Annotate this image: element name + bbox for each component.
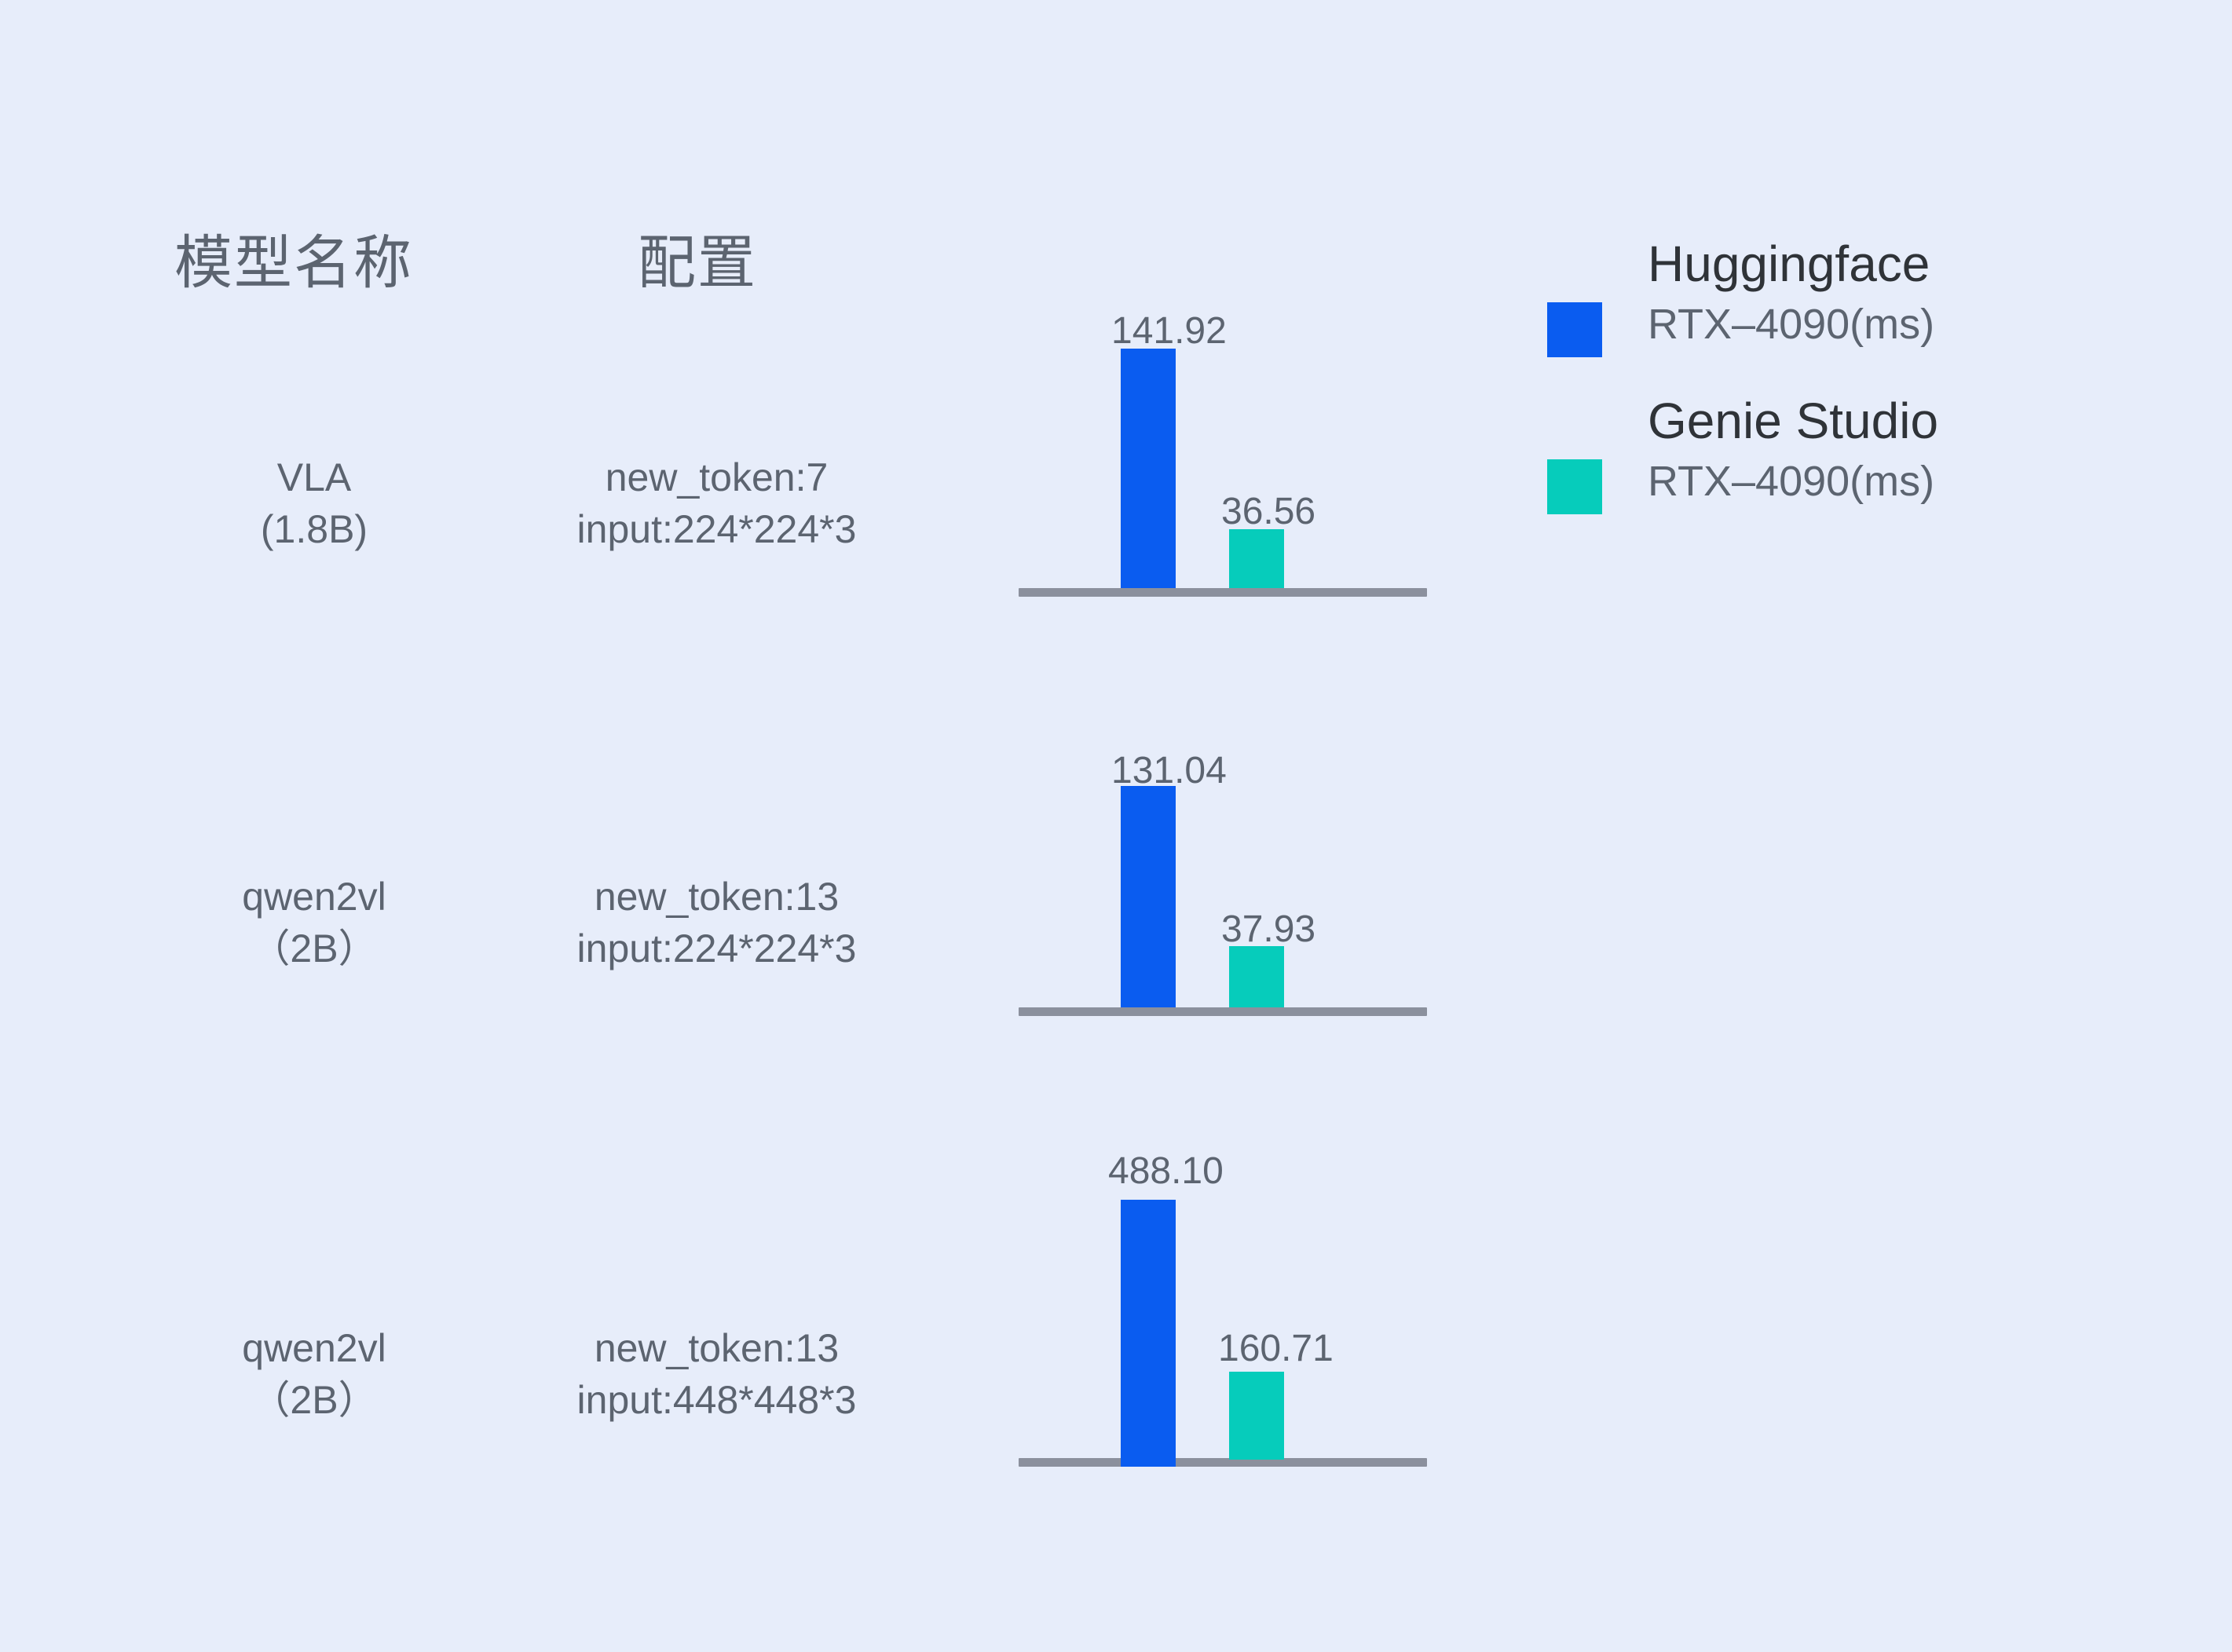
- bar-huggingface[interactable]: [1121, 1200, 1176, 1467]
- legend-title: Huggingface: [1648, 236, 2072, 294]
- bar-genie-studio[interactable]: [1229, 1372, 1284, 1460]
- row-config-label: new_token:13 input:224*224*3: [503, 871, 931, 974]
- bar-group: 141.92 36.56: [1019, 298, 1427, 597]
- row-config-label: new_token:13 input:448*448*3: [503, 1322, 931, 1426]
- bar-value-huggingface: 131.04: [1111, 752, 1227, 790]
- bar-group: 131.04 37.93: [1019, 718, 1427, 1016]
- axis-baseline: [1019, 1458, 1427, 1467]
- bar-value-genie-studio: 37.93: [1221, 911, 1315, 948]
- bar-group: 488.10 160.71: [1019, 1140, 1427, 1468]
- legend-item-huggingface[interactable]: Huggingface RTX–4090(ms): [1539, 236, 2089, 393]
- row-model-label: VLA (1.8B): [181, 451, 448, 555]
- legend-subtitle: RTX–4090(ms): [1648, 298, 2072, 352]
- axis-baseline: [1019, 1007, 1427, 1016]
- row-model-label: qwen2vl （2B）: [181, 1322, 448, 1426]
- table-row: qwen2vl （2B） new_token:13 input:448*448*…: [0, 1140, 2232, 1486]
- legend-title: Genie Studio: [1648, 393, 2072, 451]
- legend-subtitle: RTX–4090(ms): [1648, 455, 2072, 509]
- axis-baseline: [1019, 588, 1427, 597]
- bar-value-genie-studio: 160.71: [1218, 1330, 1334, 1368]
- bar-huggingface[interactable]: [1121, 786, 1176, 1007]
- bar-value-huggingface: 488.10: [1108, 1153, 1224, 1190]
- legend-swatch-icon: [1547, 302, 1602, 357]
- legend-swatch-icon: [1547, 459, 1602, 514]
- bar-genie-studio[interactable]: [1229, 946, 1284, 1007]
- legend-item-genie-studio[interactable]: Genie Studio RTX–4090(ms): [1539, 393, 2089, 550]
- bar-genie-studio[interactable]: [1229, 529, 1284, 588]
- table-row: qwen2vl （2B） new_token:13 input:224*224*…: [0, 718, 2232, 1032]
- legend: Huggingface RTX–4090(ms) Genie Studio RT…: [1539, 236, 2089, 550]
- row-model-label: qwen2vl （2B）: [181, 871, 448, 974]
- bar-huggingface[interactable]: [1121, 349, 1176, 588]
- bar-value-genie-studio: 36.56: [1221, 493, 1315, 531]
- bar-value-huggingface: 141.92: [1111, 312, 1227, 350]
- row-config-label: new_token:7 input:224*224*3: [503, 451, 931, 555]
